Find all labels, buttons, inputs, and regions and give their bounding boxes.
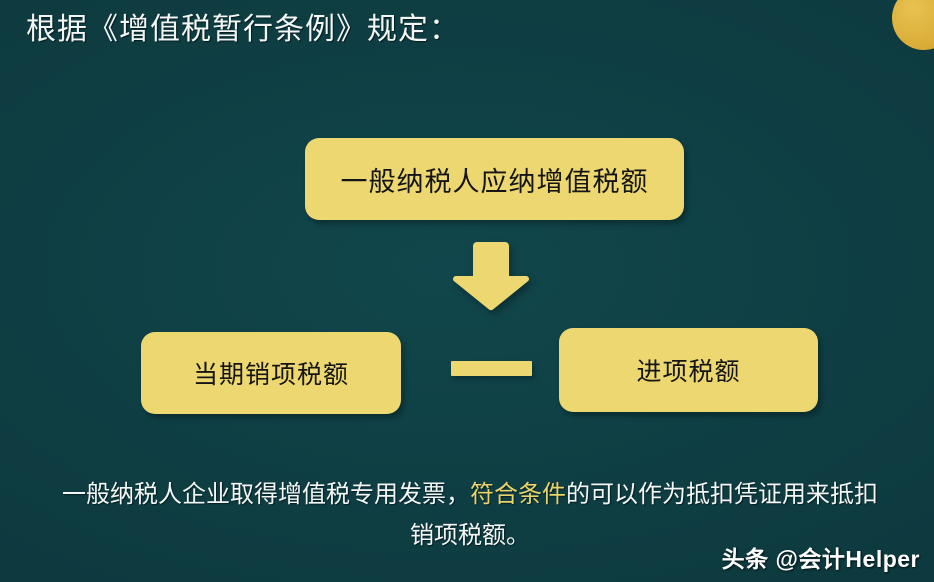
- diagram-box-taxable-amount-label: 一般纳税人应纳增值税额: [341, 160, 649, 199]
- diagram-box-taxable-amount: 一般纳税人应纳增值税额: [305, 138, 684, 220]
- decorative-circle-icon: [892, 0, 934, 50]
- diagram-box-input-tax-label: 进项税额: [636, 352, 740, 388]
- footer-note-part1: 一般纳税人企业取得增值税专用发票，: [62, 481, 470, 508]
- page-title: 根据《增值税暂行条例》规定：: [26, 8, 460, 52]
- minus-sign-icon: [451, 361, 532, 376]
- down-arrow-icon: [450, 240, 532, 312]
- diagram-box-output-tax: 当期销项税额: [141, 332, 401, 414]
- diagram-box-input-tax: 进项税额: [559, 328, 818, 412]
- diagram-box-output-tax-label: 当期销项税额: [193, 355, 349, 391]
- slide-canvas: 根据《增值税暂行条例》规定： 一般纳税人应纳增值税额 当期销项税额 进项税额 一…: [0, 0, 934, 582]
- watermark: 头条 @会计Helper: [722, 540, 920, 574]
- footer-note-highlight: 符合条件: [470, 481, 566, 508]
